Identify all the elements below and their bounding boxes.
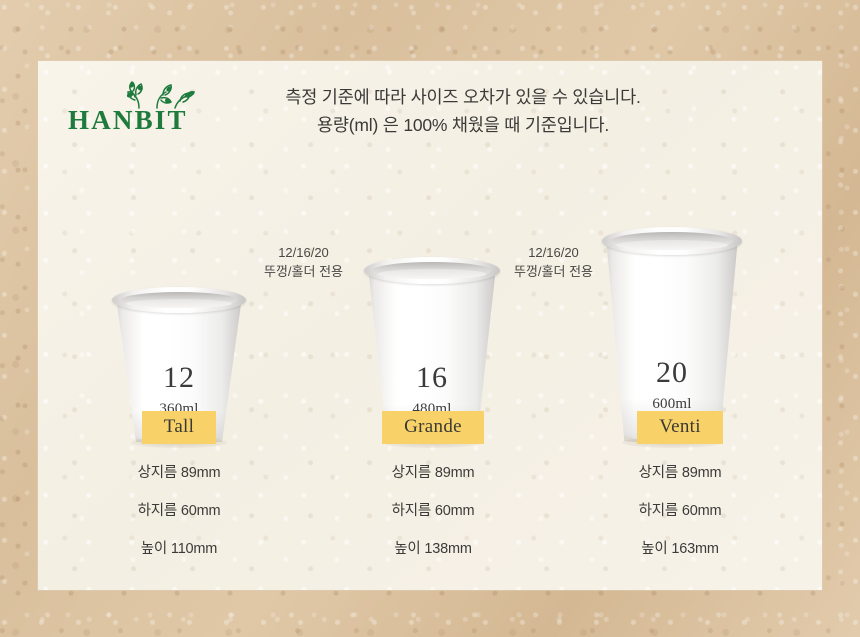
spec-height: 높이 138mm xyxy=(333,537,533,558)
cup-note-2-line-1: 12/16/20 xyxy=(496,243,611,262)
spec-column-venti: Venti 상지름 89mm 하지름 60mm 높이 163mm xyxy=(580,411,780,558)
spec-top-diameter: 상지름 89mm xyxy=(79,461,279,482)
spec-top-diameter: 상지름 89mm xyxy=(333,461,533,482)
spec-bottom-diameter: 하지름 60mm xyxy=(333,499,533,520)
cup-size-number: 16 xyxy=(368,361,496,395)
cup-note-1-line-1: 12/16/20 xyxy=(246,243,361,262)
cup-size-number: 12 xyxy=(116,361,242,395)
header-line-1: 측정 기준에 따라 사이즈 오차가 있을 수 있습니다. xyxy=(228,83,698,111)
spec-badge-venti: Venti xyxy=(637,411,723,444)
cup-note-1: 12/16/20 뚜껑/홀더 전용 xyxy=(246,243,361,281)
cup-note-2-line-2: 뚜껑/홀더 전용 xyxy=(496,262,611,281)
cup-size-number: 20 xyxy=(606,356,738,390)
cup-rim xyxy=(364,257,499,284)
cup-rim-inner xyxy=(121,292,237,308)
cups-illustration-row: 12 360ml 12/16/20 뚜껑/홀더 전용 16 480ml 1 xyxy=(38,123,822,443)
spec-height: 높이 163mm xyxy=(580,537,780,558)
spec-height: 높이 110mm xyxy=(79,537,279,558)
cup-note-2: 12/16/20 뚜껑/홀더 전용 xyxy=(496,243,611,281)
content-panel: HANBIT 측정 기준에 따라 사이즈 오차가 있을 수 있습니다. 용량(m… xyxy=(38,61,822,590)
spec-badge-grande: Grande xyxy=(382,411,484,444)
cup-note-1-line-2: 뚜껑/홀더 전용 xyxy=(246,262,361,281)
spec-bottom-diameter: 하지름 60mm xyxy=(79,499,279,520)
spec-badge-tall: Tall xyxy=(142,411,216,444)
cup-rim xyxy=(112,287,245,313)
spec-column-tall: Tall 상지름 89mm 하지름 60mm 높이 110mm xyxy=(79,411,279,558)
cup-rim xyxy=(602,227,741,255)
cup-rim-inner xyxy=(373,262,491,279)
specifications-row: Tall 상지름 89mm 하지름 60mm 높이 110mm Grande 상… xyxy=(38,411,822,586)
spec-bottom-diameter: 하지름 60mm xyxy=(580,499,780,520)
cup-rim-inner xyxy=(611,232,732,250)
spec-column-grande: Grande 상지름 89mm 하지름 60mm 높이 138mm xyxy=(333,411,533,558)
spec-top-diameter: 상지름 89mm xyxy=(580,461,780,482)
